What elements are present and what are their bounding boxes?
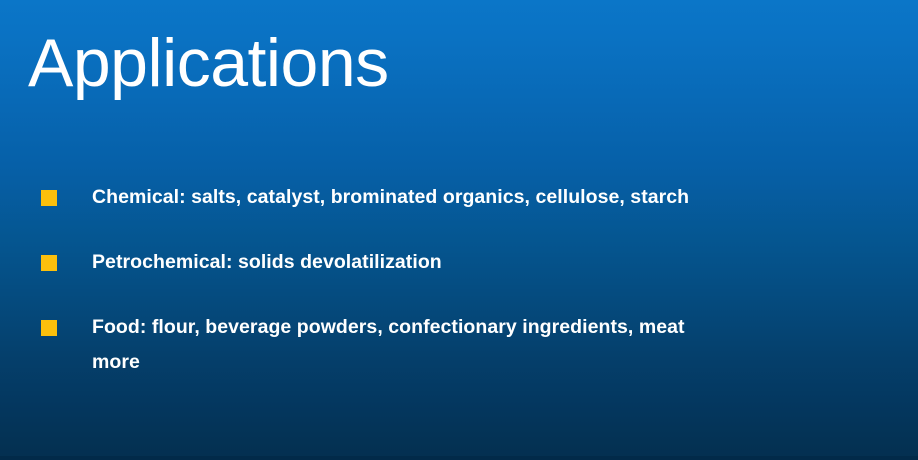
list-item: Petrochemical: solids devolatilization <box>41 245 918 280</box>
slide-bottom-edge <box>0 456 918 460</box>
square-bullet-icon <box>41 320 57 336</box>
page-title: Applications <box>28 22 389 104</box>
list-item: Food: flour, beverage powders, confectio… <box>41 310 918 380</box>
presentation-slide: Applications Chemical: salts, catalyst, … <box>0 0 918 460</box>
list-item-label: Food: flour, beverage powders, confectio… <box>92 310 918 380</box>
list-item-label: Petrochemical: solids devolatilization <box>92 245 918 280</box>
square-bullet-icon <box>41 255 57 271</box>
applications-bullet-list: Chemical: salts, catalyst, brominated or… <box>41 180 918 380</box>
list-item: Chemical: salts, catalyst, brominated or… <box>41 180 918 215</box>
list-item-label: Chemical: salts, catalyst, brominated or… <box>92 180 918 215</box>
square-bullet-icon <box>41 190 57 206</box>
